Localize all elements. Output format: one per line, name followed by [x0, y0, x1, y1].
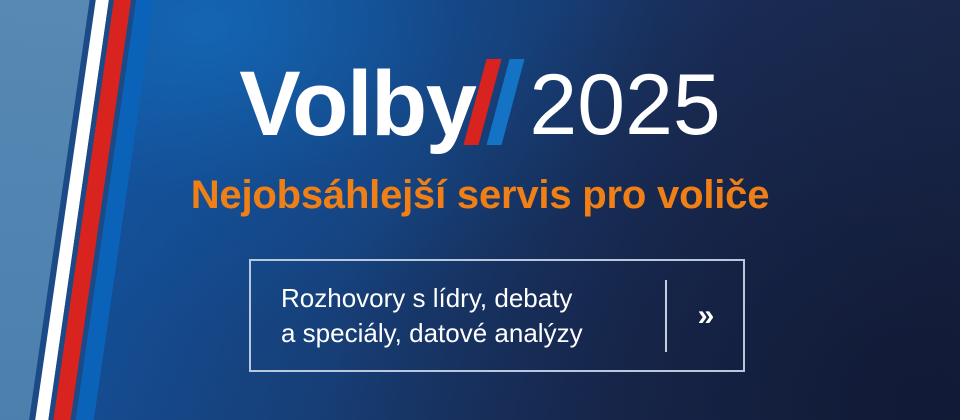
cta-text: Rozhovory s lídry, debaty a speciály, da…	[251, 281, 665, 350]
double-slash-icon	[469, 59, 523, 145]
cta-line-2: a speciály, datové analýzy	[281, 316, 665, 351]
cta-button[interactable]: Rozhovory s lídry, debaty a speciály, da…	[249, 259, 745, 372]
chevron-double-right-icon[interactable]: »	[667, 299, 743, 333]
elections-promo-banner: Volby 2025 Nejobsáhlejší servis pro voli…	[0, 0, 960, 420]
cta-line-1: Rozhovory s lídry, debaty	[281, 281, 665, 316]
title-brand: Volby	[239, 60, 475, 148]
banner-subtitle: Nejobsáhlejší servis pro voliče	[0, 173, 960, 218]
title-year: 2025	[529, 62, 720, 148]
banner-title: Volby 2025	[0, 38, 960, 148]
